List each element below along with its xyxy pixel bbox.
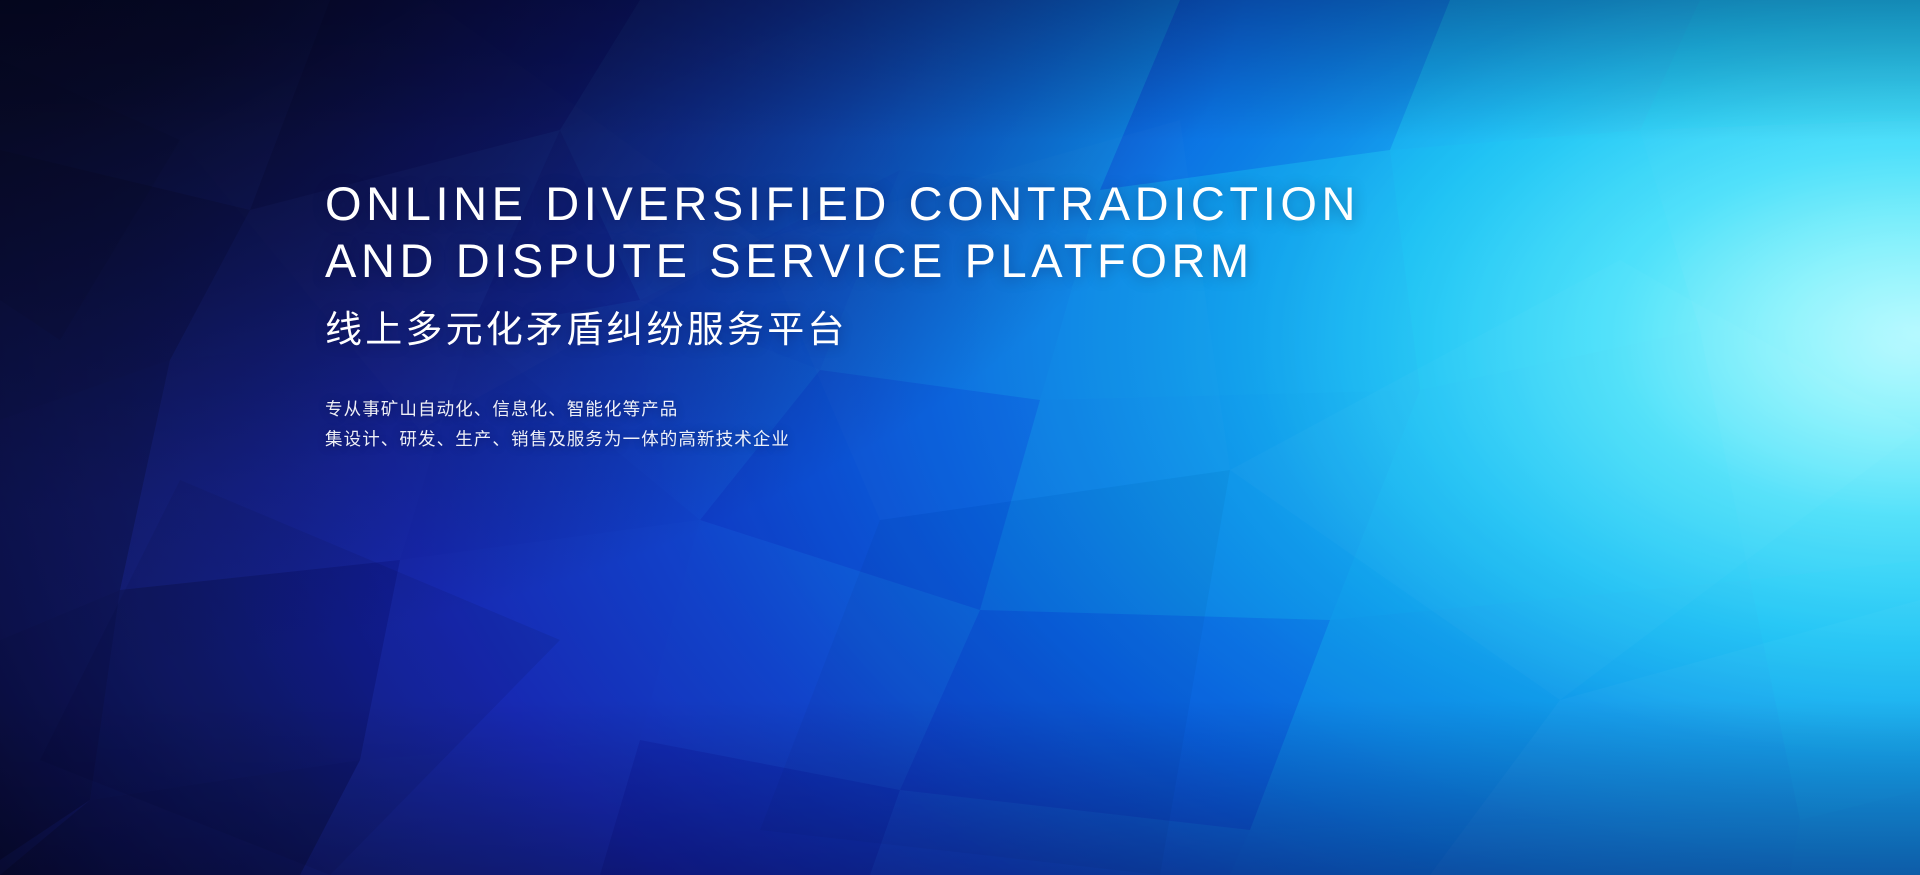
headline-line-2: AND DISPUTE SERVICE PLATFORM: [325, 232, 1625, 289]
hero-content: ONLINE DIVERSIFIED CONTRADICTION AND DIS…: [325, 175, 1625, 454]
tagline-line-1: 专从事矿山自动化、信息化、智能化等产品: [325, 394, 1625, 424]
hero-subtitle-chinese: 线上多元化矛盾纠纷服务平台: [325, 308, 1625, 352]
tagline-line-2: 集设计、研发、生产、销售及服务为一体的高新技术企业: [325, 424, 1625, 454]
hero-tagline: 专从事矿山自动化、信息化、智能化等产品 集设计、研发、生产、销售及服务为一体的高…: [325, 394, 1625, 454]
hero-banner: ONLINE DIVERSIFIED CONTRADICTION AND DIS…: [0, 0, 1920, 875]
hero-headline-english: ONLINE DIVERSIFIED CONTRADICTION AND DIS…: [325, 175, 1625, 289]
headline-line-1: ONLINE DIVERSIFIED CONTRADICTION: [325, 175, 1625, 232]
